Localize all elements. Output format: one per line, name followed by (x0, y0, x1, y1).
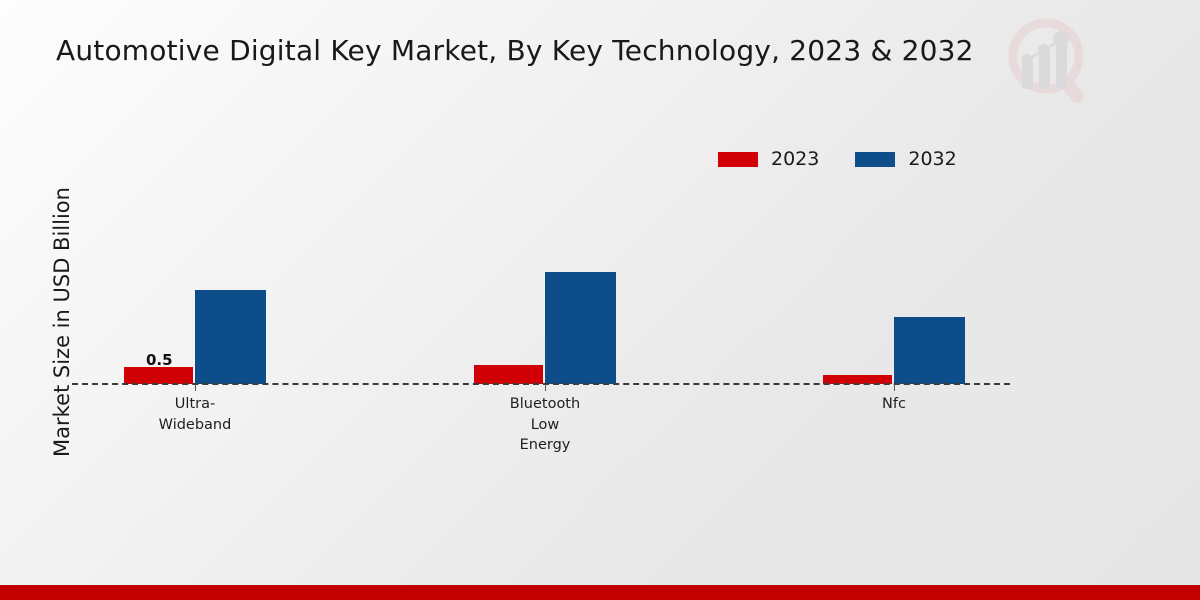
plot-area (72, 140, 1010, 384)
bar-2023-bluetooth-low-energy[interactable] (474, 365, 543, 384)
bar-2023-ultra-wideband[interactable] (124, 367, 193, 384)
chart-title: Automotive Digital Key Market, By Key Te… (56, 34, 974, 67)
y-axis-title: Market Size in USD Billion (50, 157, 74, 487)
x-axis-label-ultra-wideband: Ultra- Wideband (125, 394, 265, 435)
x-axis-tick-ultra-wideband (195, 384, 196, 391)
bar-2032-nfc[interactable] (894, 317, 965, 384)
bar-group-bluetooth-low-energy (474, 140, 616, 384)
bar-2032-ultra-wideband[interactable] (195, 290, 266, 384)
value-label-2023-ultra-wideband: 0.5 (146, 351, 173, 369)
x-axis-label-nfc: Nfc (824, 394, 964, 415)
x-axis-label-bluetooth-low-energy: Bluetooth Low Energy (475, 394, 615, 456)
bar-2032-bluetooth-low-energy[interactable] (545, 272, 616, 384)
x-axis-tick-bluetooth-low-energy (545, 384, 546, 391)
bar-group-ultra-wideband (124, 140, 266, 384)
market-research-logo-watermark (1006, 18, 1092, 110)
bottom-accent-strip (0, 585, 1200, 600)
axis-baseline (72, 383, 1010, 385)
x-axis-tick-nfc (894, 384, 895, 391)
bar-group-nfc (823, 140, 965, 384)
chart-page: Automotive Digital Key Market, By Key Te… (0, 0, 1200, 600)
